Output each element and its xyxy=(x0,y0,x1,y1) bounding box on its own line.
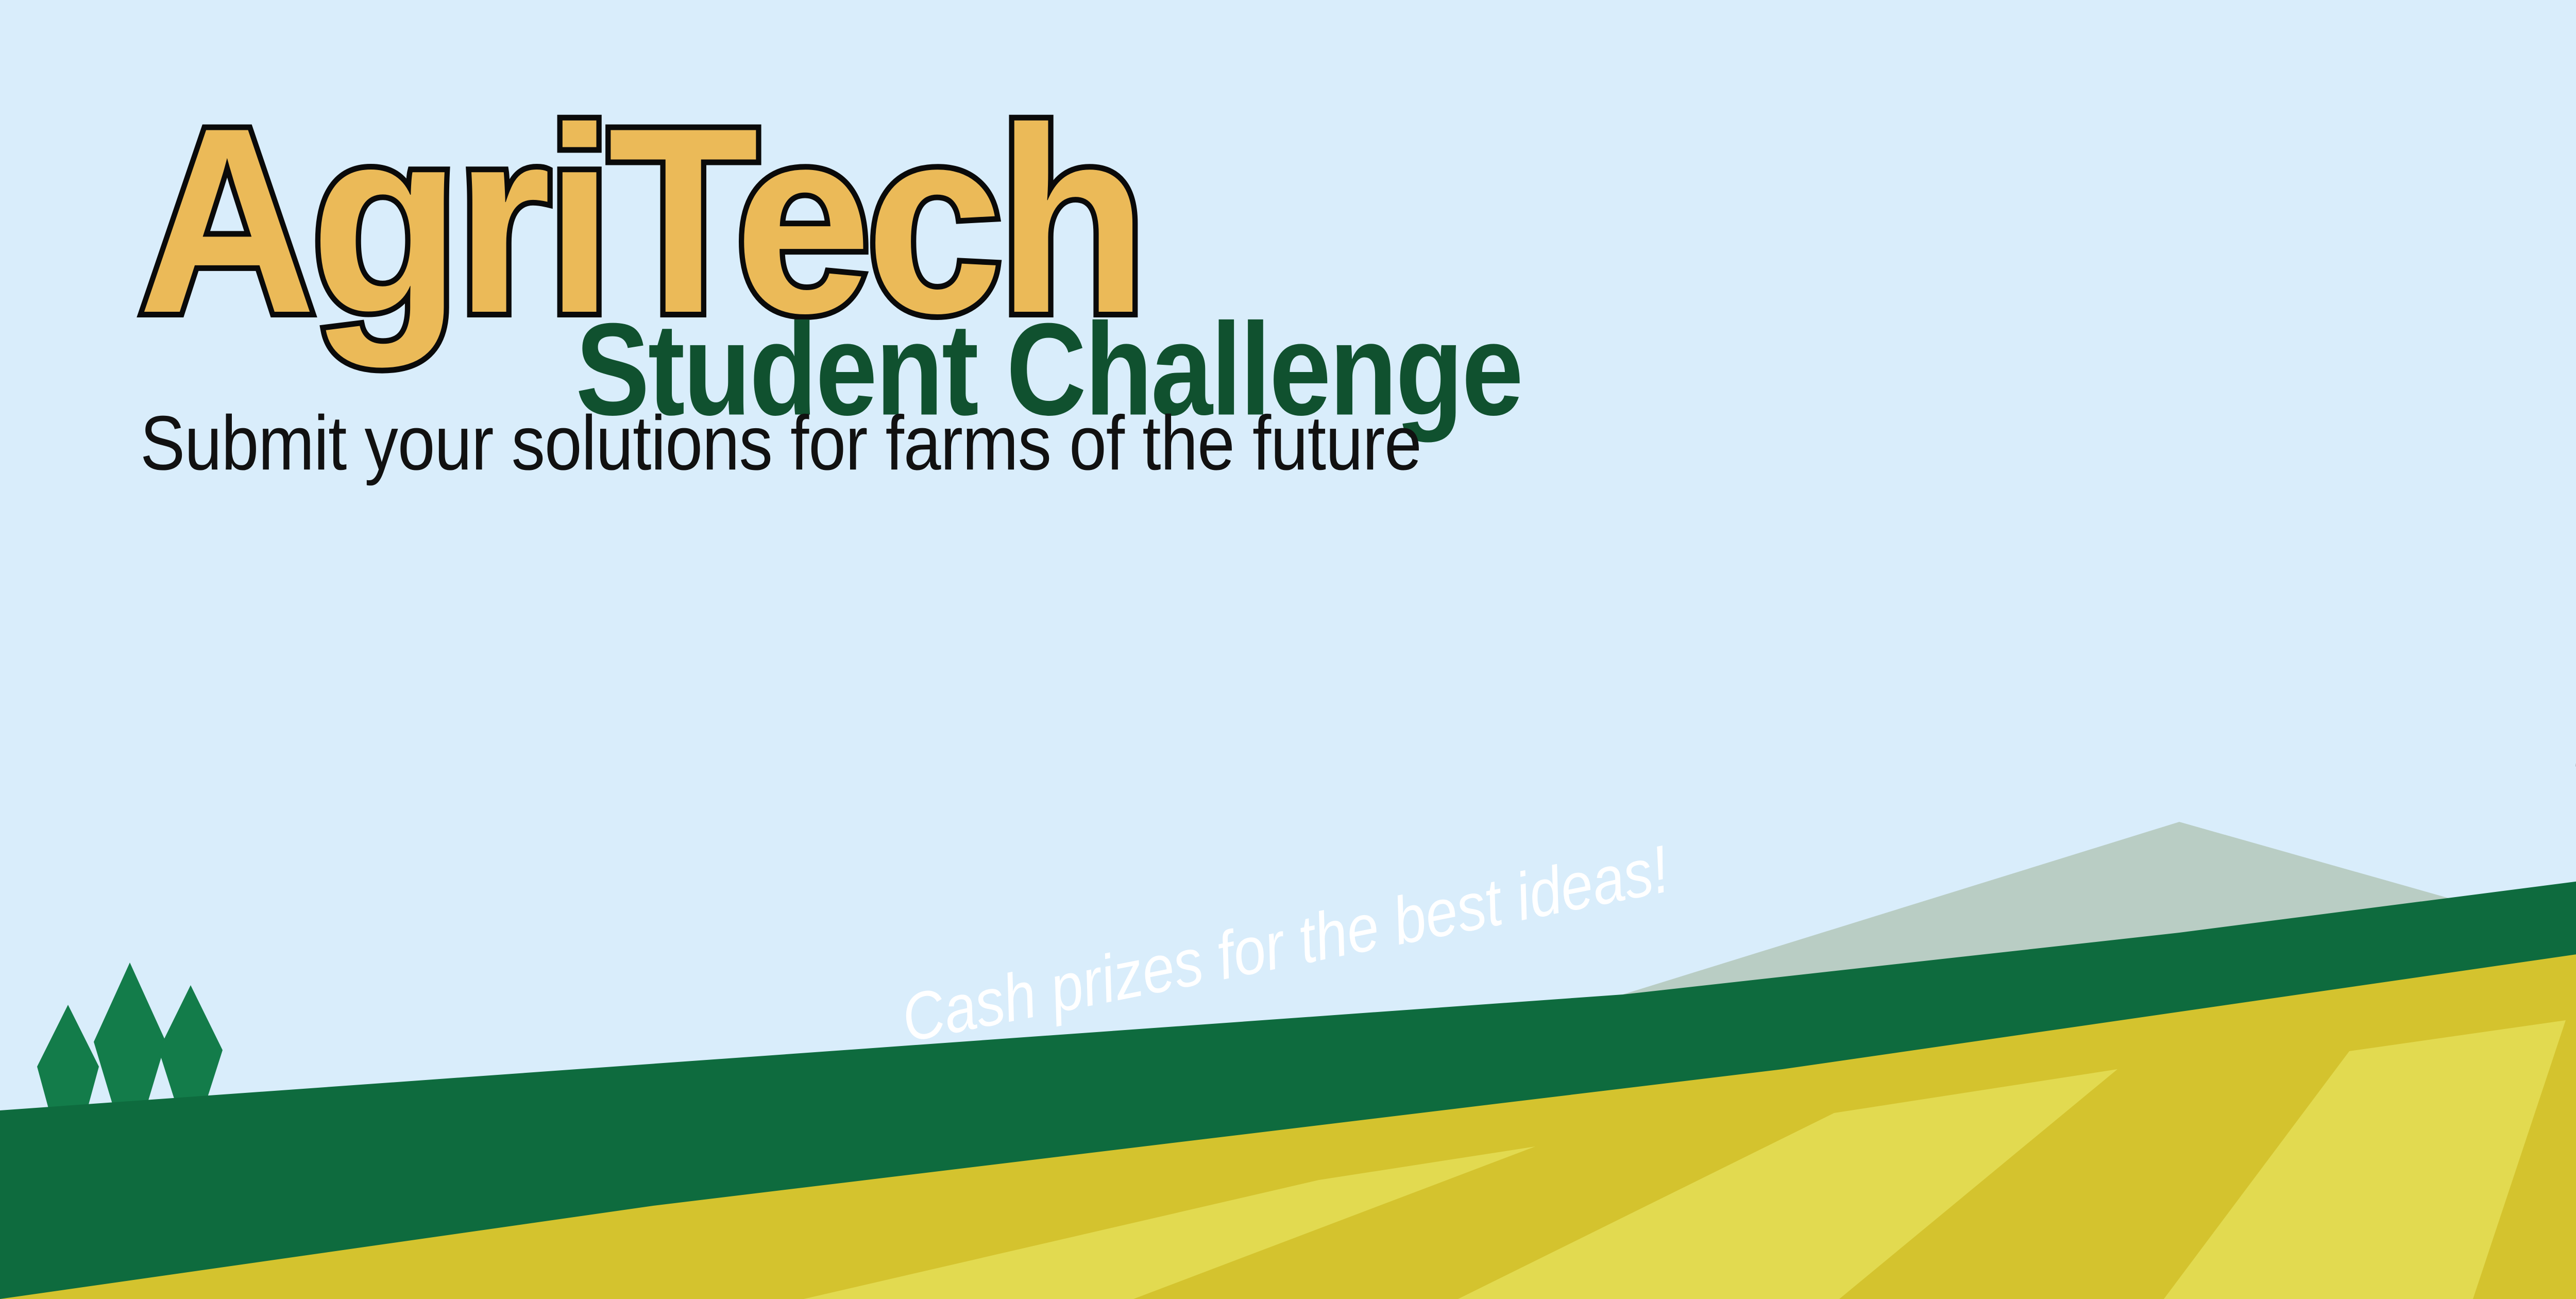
agritech-student-challenge-banner: AgriTech Student Challenge Submit your s… xyxy=(0,0,2576,1299)
title-block: AgriTech Student Challenge Submit your s… xyxy=(138,92,1993,471)
page-tagline: Submit your solutions for farms of the f… xyxy=(138,405,2030,482)
